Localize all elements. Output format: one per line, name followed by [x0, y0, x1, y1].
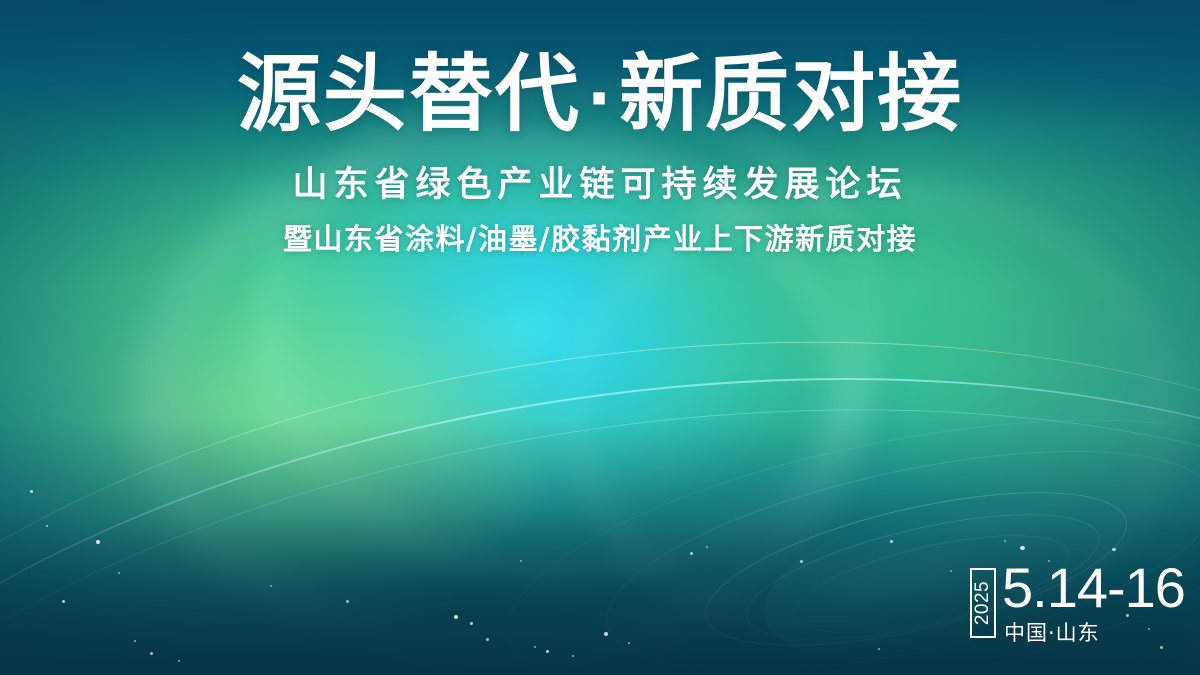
- event-date-text-group: 5.14-16 中国·山东: [1002, 562, 1185, 647]
- event-date-block: 2025 5.14-16 中国·山东: [970, 562, 1185, 647]
- headline-left-phrase: 源头替代: [237, 45, 581, 143]
- poster-subtitle-secondary: 暨山东省涂料/油墨/胶黏剂产业上下游新质对接: [0, 216, 1200, 258]
- event-year-box: 2025: [970, 568, 996, 638]
- poster-headline: 源头替代·新质对接: [0, 52, 1200, 136]
- headline-right-phrase: 新质对接: [619, 45, 963, 143]
- event-poster: 源头替代·新质对接 山东省绿色产业链可持续发展论坛 暨山东省涂料/油墨/胶黏剂产…: [0, 0, 1200, 675]
- poster-text-block: 源头替代·新质对接 山东省绿色产业链可持续发展论坛 暨山东省涂料/油墨/胶黏剂产…: [0, 52, 1200, 258]
- poster-subtitle-primary: 山东省绿色产业链可持续发展论坛: [0, 156, 1200, 207]
- event-date-range: 5.14-16: [1002, 562, 1185, 614]
- headline-separator-dot: ·: [581, 68, 619, 132]
- event-year: 2025: [972, 581, 994, 625]
- event-location: 中国·山东: [1004, 617, 1100, 647]
